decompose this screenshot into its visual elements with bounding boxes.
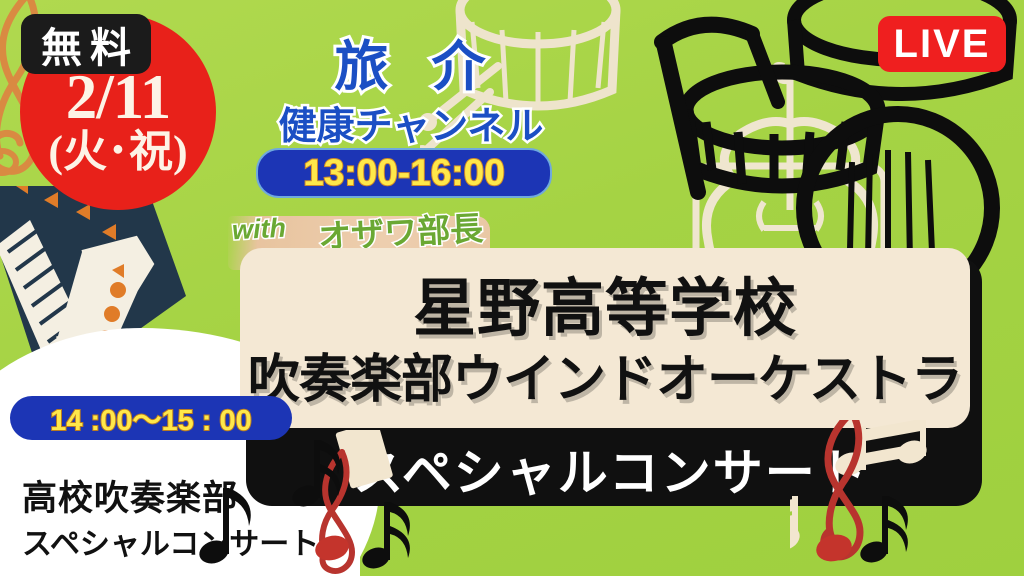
segment-time-value: 14 :00〜15 : 00: [50, 397, 252, 439]
broadcast-time-value: 13:00-16:00: [303, 152, 505, 194]
broadcast-time-pill: 13:00-16:00: [256, 148, 552, 198]
date-value: 2/11: [20, 66, 216, 129]
channel-name-sub: 健康チャンネル: [252, 95, 570, 150]
segment-title-line2: スペシャルコンサート: [22, 519, 319, 563]
date-weekday: (火･祝): [20, 130, 216, 174]
segment-title-line1: 高校吹奏楽部: [22, 470, 238, 521]
main-title-line1: 星野高等学校: [240, 258, 970, 349]
poster-canvas: 無料 2/11 (火･祝) LIVE 旅 介 健康チャンネル 13:00-16:…: [0, 0, 1024, 576]
saxophone-illustration: [0, 186, 196, 401]
segment-time-pill: 14 :00〜15 : 00: [10, 396, 292, 440]
channel-name-main: 旅 介: [270, 22, 550, 101]
main-title-line2: 吹奏楽部ウインドオーケストラ: [240, 337, 970, 412]
main-title-line3: スペシャルコンサート: [246, 433, 976, 505]
live-badge: LIVE: [878, 16, 1006, 72]
guest-with-label: with: [231, 213, 287, 247]
